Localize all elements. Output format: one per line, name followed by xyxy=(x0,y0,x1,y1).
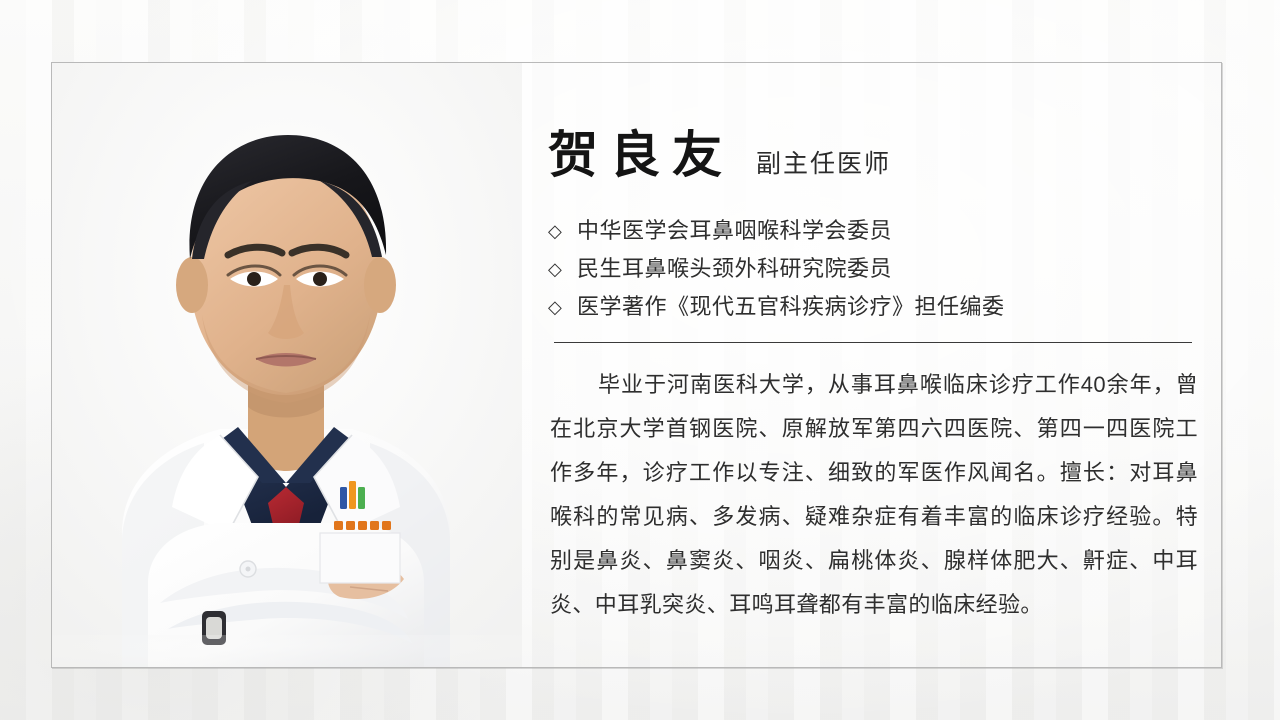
credential-text: 医学著作《现代五官科疾病诊疗》担任编委 xyxy=(577,296,1005,318)
diamond-bullet-icon: ◇ xyxy=(548,298,577,316)
diamond-bullet-icon: ◇ xyxy=(548,260,577,278)
diamond-bullet-icon: ◇ xyxy=(548,222,577,240)
credential-item: ◇ 医学著作《现代五官科疾病诊疗》担任编委 xyxy=(548,288,1208,326)
doctor-info-column: 贺良友 副主任医师 ◇ 中华医学会耳鼻咽喉科学会委员 ◇ 民生耳鼻喉头颈外科研究… xyxy=(548,130,1208,627)
biography-paragraph: 毕业于河南医科大学，从事耳鼻喉临床诊疗工作40余年，曾在北京大学首钢医院、原解放… xyxy=(550,363,1198,627)
doctor-name: 贺良友 xyxy=(548,130,734,180)
credential-text: 中华医学会耳鼻咽喉科学会委员 xyxy=(577,220,892,242)
name-row: 贺良友 副主任医师 xyxy=(548,130,1208,200)
credential-list: ◇ 中华医学会耳鼻咽喉科学会委员 ◇ 民生耳鼻喉头颈外科研究院委员 ◇ 医学著作… xyxy=(548,212,1208,326)
doctor-title: 副主任医师 xyxy=(756,152,891,177)
credential-item: ◇ 民生耳鼻喉头颈外科研究院委员 xyxy=(548,250,1208,288)
doctor-profile-slide: 贺良友 副主任医师 ◇ 中华医学会耳鼻咽喉科学会委员 ◇ 民生耳鼻喉头颈外科研究… xyxy=(0,0,1280,720)
credential-item: ◇ 中华医学会耳鼻咽喉科学会委员 xyxy=(548,212,1208,250)
section-divider xyxy=(554,342,1192,343)
credential-text: 民生耳鼻喉头颈外科研究院委员 xyxy=(577,258,892,280)
